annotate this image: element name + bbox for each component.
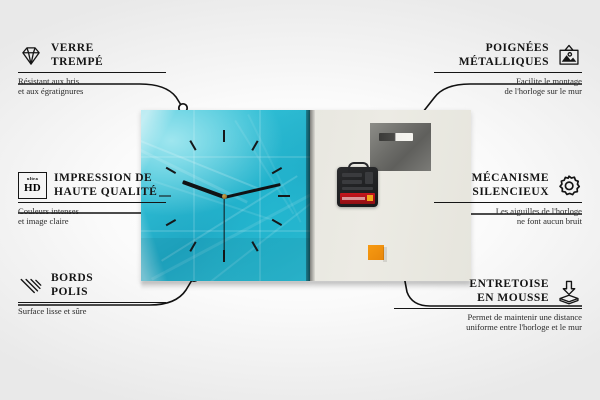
battery-terminal: [367, 195, 373, 201]
callout-title: IMPRESSION DE: [54, 172, 157, 186]
callout-desc-line-1: Résistant aux bris: [18, 76, 166, 86]
callout-title: VERRE: [51, 42, 103, 56]
clock-second-hand: [223, 197, 224, 259]
callout-title-2: HAUTE QUALITÉ: [54, 186, 157, 200]
callout-impression-haute-qualite: ultra HD IMPRESSION DE HAUTE QUALITÉ Cou…: [18, 172, 166, 227]
infographic-stage: VERRE TREMPÉ Résistant aux bris et aux é…: [0, 0, 600, 400]
picture-frame-icon: [556, 43, 582, 69]
ultra-hd-badge-icon: ultra HD: [18, 172, 47, 199]
callout-title: ENTRETOISE: [469, 278, 549, 292]
callout-rule: [394, 308, 582, 309]
clock-front-panel: [141, 110, 310, 281]
foam-spacer-icon: [556, 279, 582, 305]
gear-icon: [556, 173, 582, 199]
hanger-slot: [379, 133, 413, 141]
callout-desc-line-2: de l'horloge sur le mur: [434, 86, 582, 96]
callout-rule: [18, 302, 166, 303]
callout-title-2: EN MOUSSE: [469, 292, 549, 306]
clock-tick: [166, 219, 176, 226]
callout-desc-line-2: et image claire: [18, 216, 166, 226]
product-image: [141, 110, 471, 281]
callout-desc-line-1: Les aiguilles de l'horloge: [434, 206, 582, 216]
callout-title: POIGNÉES: [459, 42, 549, 56]
clock-movement-box: [337, 167, 378, 207]
callout-verre-trempe: VERRE TREMPÉ Résistant aux bris et aux é…: [18, 42, 166, 97]
callout-desc-line-2: ne font aucun bruit: [434, 216, 582, 226]
battery: [340, 193, 375, 204]
callout-desc-line-2: uniforme entre l'horloge et le mur: [394, 322, 582, 332]
callout-title-2: SILENCIEUX: [472, 186, 549, 200]
callout-rule: [18, 202, 166, 203]
callout-rule: [434, 72, 582, 73]
callout-desc-line-1: Facilite le montage: [434, 76, 582, 86]
callout-title-2: TREMPÉ: [51, 56, 103, 70]
callout-entretoise-en-mousse: ENTRETOISE EN MOUSSE Permet de maintenir…: [394, 278, 582, 333]
callout-rule: [434, 202, 582, 203]
callout-title: MÉCANISME: [472, 172, 549, 186]
callout-mecanisme-silencieux: MÉCANISME SILENCIEUX Les aiguilles de l'…: [434, 172, 582, 227]
polished-edge-icon: [18, 273, 44, 299]
callout-poignees-metalliques: POIGNÉES MÉTALLIQUES Facilite le montage…: [434, 42, 582, 97]
callout-desc-line-1: Couleurs intenses: [18, 206, 166, 216]
callout-desc-line-1: Permet de maintenir une distance: [394, 312, 582, 322]
ultra-hd-large-text: HD: [24, 183, 41, 194]
clock-center-cap: [222, 194, 227, 199]
metal-hanger-plate: [370, 123, 431, 171]
clock-tick: [278, 195, 290, 197]
clock-tick: [223, 130, 225, 142]
diamond-icon: [18, 43, 44, 69]
callout-desc-line-2: et aux égratignures: [18, 86, 166, 96]
callout-title-2: MÉTALLIQUES: [459, 56, 549, 70]
callout-title: BORDS: [51, 272, 93, 286]
callout-title-2: POLIS: [51, 286, 93, 300]
battery-label: [342, 197, 365, 200]
foam-spacer-pad: [368, 245, 384, 260]
callout-desc-line-1: Surface lisse et sûre: [18, 306, 166, 316]
callout-bords-polis: BORDS POLIS Surface lisse et sûre: [18, 272, 166, 316]
callout-rule: [18, 72, 166, 73]
